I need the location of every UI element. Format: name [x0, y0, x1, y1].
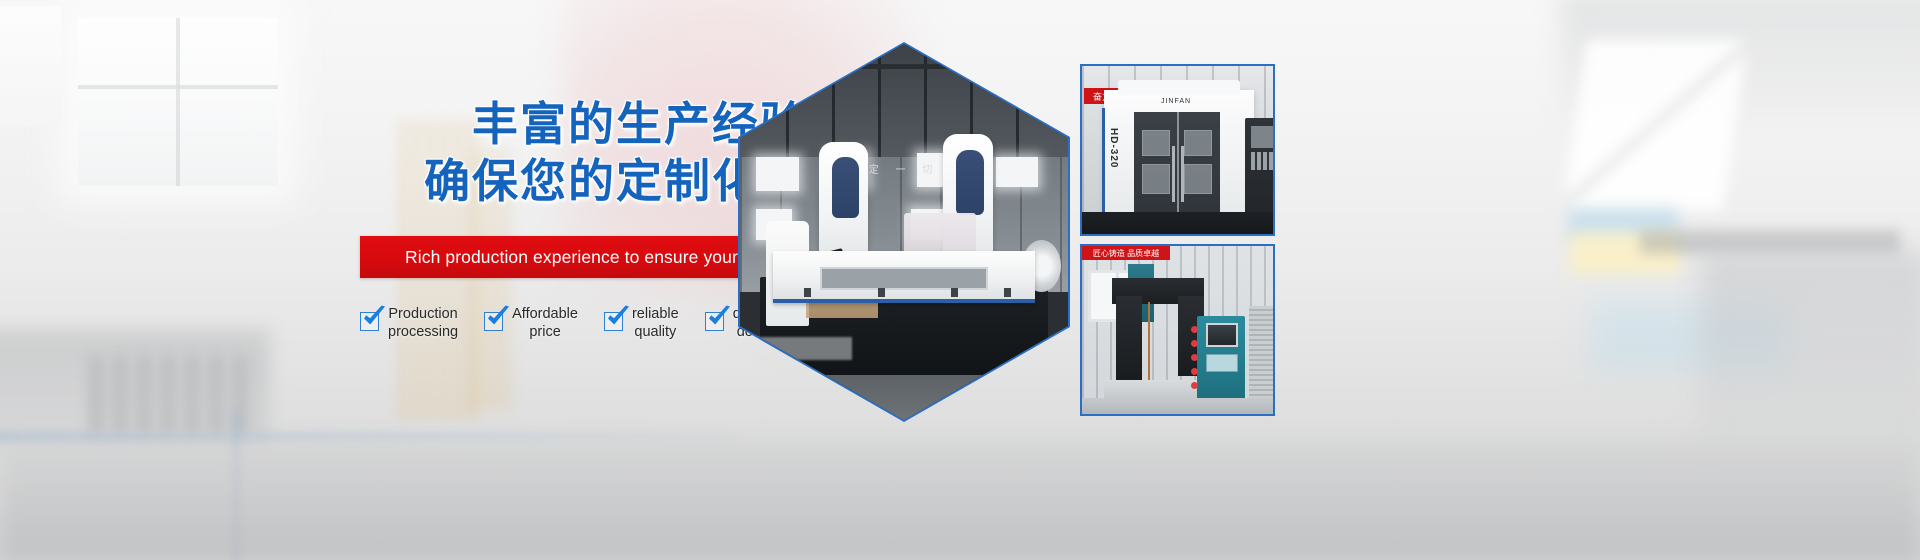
feature-label-line-2: price: [512, 324, 578, 342]
wall-banner: 匠心铸造 品质卓越: [1082, 246, 1170, 260]
hexagon-hero-image: 定 一 切: [738, 42, 1070, 422]
workshop-roof: [740, 44, 1068, 168]
feature-item-affordable-price[interactable]: Affordable price: [484, 306, 578, 341]
machine-model-label: HD-320: [1108, 128, 1119, 168]
cnc-workshop-scene: 定 一 切: [740, 44, 1068, 420]
feature-label-line-1: Affordable: [512, 306, 578, 324]
workshop-floor: [740, 375, 1068, 420]
hexagon-photo-clip: 定 一 切: [740, 44, 1068, 420]
workshop-overhead-sign: 定 一 切: [858, 157, 950, 180]
machine-conveyor: [753, 337, 851, 360]
checkbox-checked-icon[interactable]: [604, 312, 623, 331]
machine-control-pendant: [1245, 118, 1275, 216]
checkbox-checked-icon[interactable]: [484, 312, 503, 331]
workshop-window: [756, 157, 799, 191]
feature-label: reliable quality: [632, 306, 679, 341]
workshop-window: [996, 157, 1039, 187]
feature-label: Affordable price: [512, 306, 578, 341]
feature-label-line-2: processing: [388, 324, 458, 342]
thumbnail-enclosed-machining-center[interactable]: 奋力 JINFAN HD-320: [1080, 64, 1275, 236]
checkbox-checked-icon[interactable]: [360, 312, 379, 331]
feature-item-reliable-quality[interactable]: reliable quality: [604, 306, 679, 341]
machine-brand-mark: JINFAN: [1144, 98, 1208, 105]
electrode-wire: [1148, 302, 1150, 388]
machine-crown: [1118, 80, 1240, 94]
feature-label-line-2: quality: [632, 324, 679, 342]
electrical-cabinet: [1249, 306, 1273, 402]
feature-item-production-processing[interactable]: Production processing: [360, 306, 458, 341]
workshop-floor: [1082, 398, 1273, 414]
feature-label-line-1: Production: [388, 306, 458, 324]
gantry-post-left: [1116, 296, 1142, 382]
checkbox-checked-icon[interactable]: [705, 312, 724, 331]
feature-label-line-1: reliable: [632, 306, 679, 324]
machine-plinth: [1082, 212, 1273, 234]
cnc-controller: [1197, 316, 1245, 400]
thumbnail-gantry-boring-machine[interactable]: 匠心铸造 品质卓越: [1080, 244, 1275, 416]
machine-work-table: [773, 251, 1035, 304]
banner-stage: 丰富的生产经验 确保您的定制化需求 Rich production experi…: [0, 0, 1920, 560]
feature-label: Production processing: [388, 306, 458, 341]
